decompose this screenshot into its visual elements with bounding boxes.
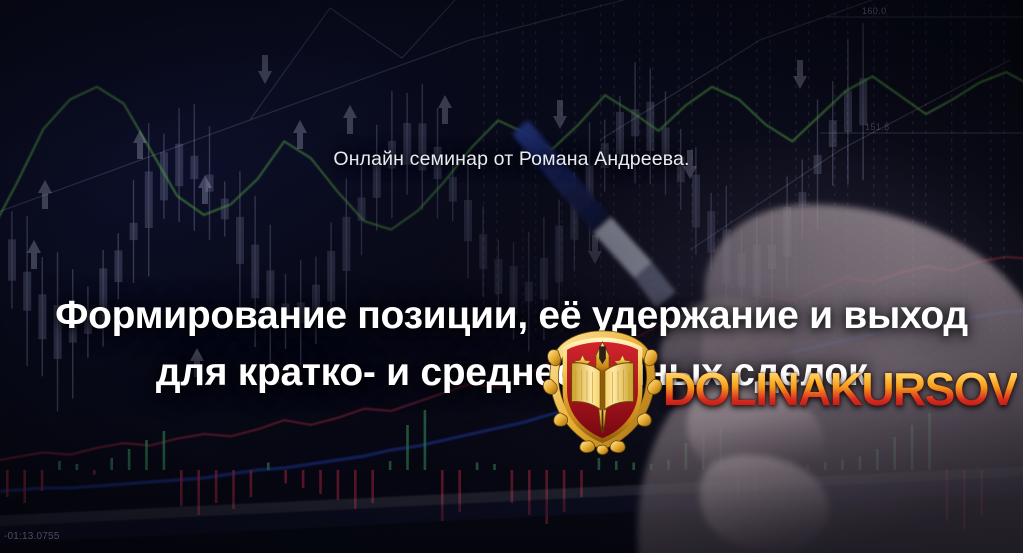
page-title: Формирование позиции, её удержание и вых…	[0, 287, 1023, 401]
headline-line-2: для кратко- и среднесрочных сделок	[0, 344, 1023, 401]
headline-line-1: Формирование позиции, её удержание и вых…	[0, 287, 1023, 344]
seminar-subtitle: Онлайн семинар от Романа Андреева.	[0, 148, 1023, 171]
seminar-banner: 160.0 151.8 -01:13.0755 Онлайн семинар о…	[0, 0, 1023, 553]
trading-chart-background	[0, 0, 1023, 553]
